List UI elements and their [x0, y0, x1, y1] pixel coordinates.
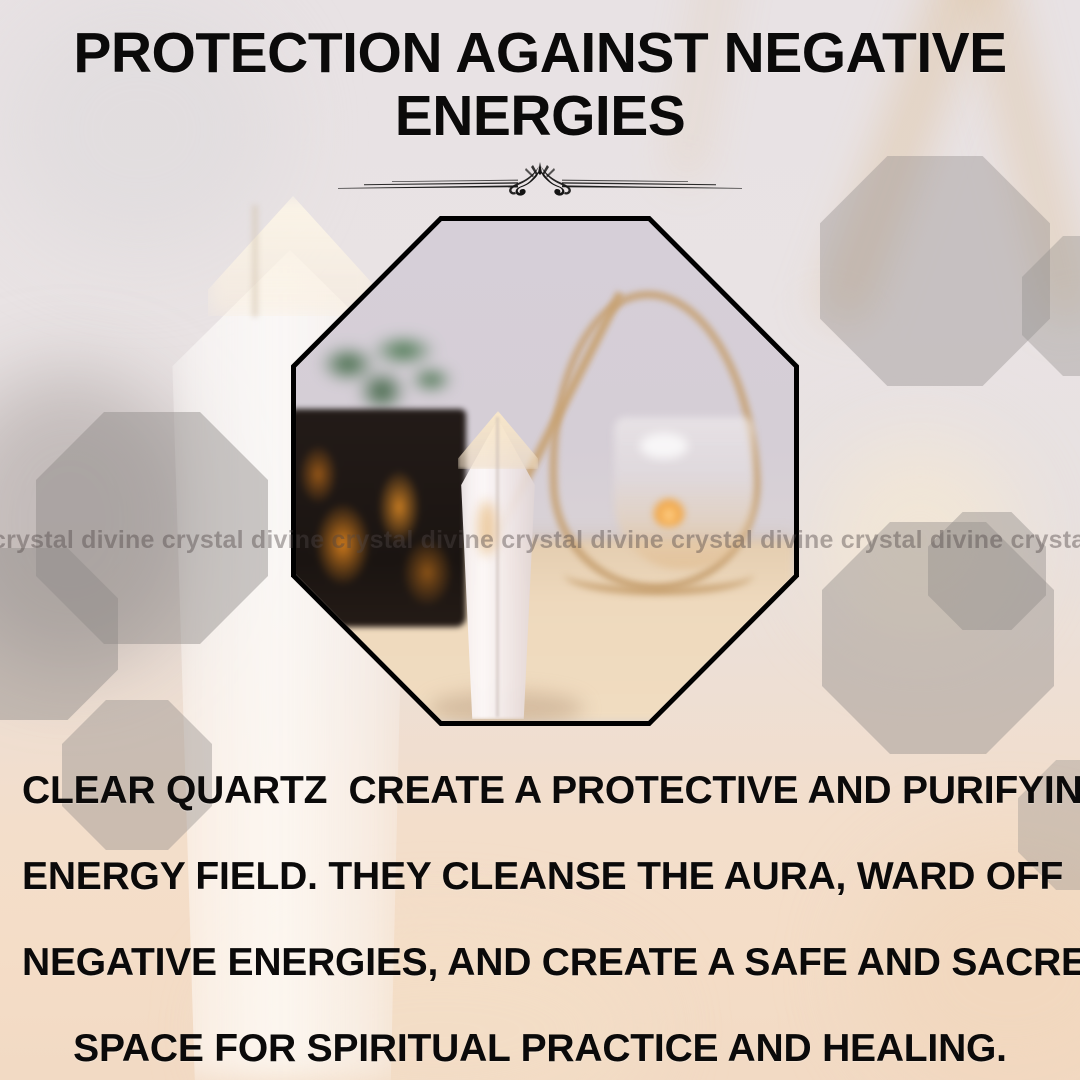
photo-tortoiseshell-planter [296, 409, 466, 627]
photo-glass-highlight [640, 433, 688, 459]
page-title: PROTECTION AGAINST NEGATIVE ENERGIES [0, 22, 1080, 147]
ornamental-flourish-divider-icon [330, 160, 750, 202]
background-crystal-facet [252, 205, 258, 317]
octagon-photo-frame [291, 216, 799, 726]
photo-crystal-facet-edge [496, 417, 499, 717]
decorative-octagon [928, 512, 1046, 630]
body-line: ENERGY FIELD. THEY CLEANSE THE AURA, WAR… [22, 834, 1058, 920]
poster-canvas: PROTECTION AGAINST NEGATIVE ENERGIES [0, 0, 1080, 1080]
decorative-octagon [820, 156, 1050, 386]
body-line: SPACE FOR SPIRITUAL PRACTICE AND HEALING… [22, 1006, 1058, 1080]
body-line: NEGATIVE ENERGIES, AND CREATE A SAFE AND… [22, 920, 1058, 1006]
photo-crystal-inner-glow [478, 501, 496, 555]
body-line: CLEAR QUARTZ CREATE A PROTECTIVE AND PUR… [22, 748, 1058, 834]
photo-candle-flame [652, 497, 686, 527]
body-description: CLEAR QUARTZ CREATE A PROTECTIVE AND PUR… [0, 748, 1080, 1080]
product-photo [296, 221, 794, 721]
